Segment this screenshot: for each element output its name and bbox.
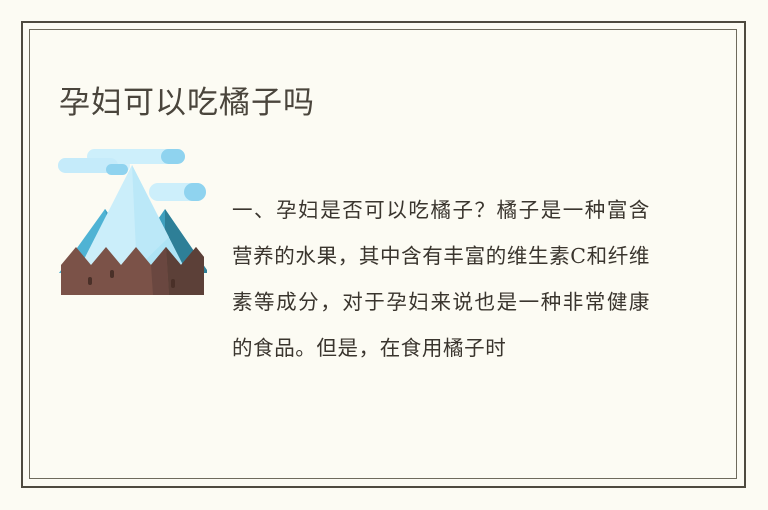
mountain-landscape-icon: [57, 147, 207, 295]
rock-speck: [171, 279, 175, 288]
rock-speck: [88, 277, 92, 285]
article-body-text: 一、孕妇是否可以吃橘子？橘子是一种富含营养的水果，其中含有丰富的维生素C和纤维素…: [232, 187, 650, 371]
page-title: 孕妇可以吃橘子吗: [59, 83, 315, 123]
rock-speck: [110, 270, 114, 278]
article-card: 孕妇可以吃橘子吗: [0, 0, 768, 510]
